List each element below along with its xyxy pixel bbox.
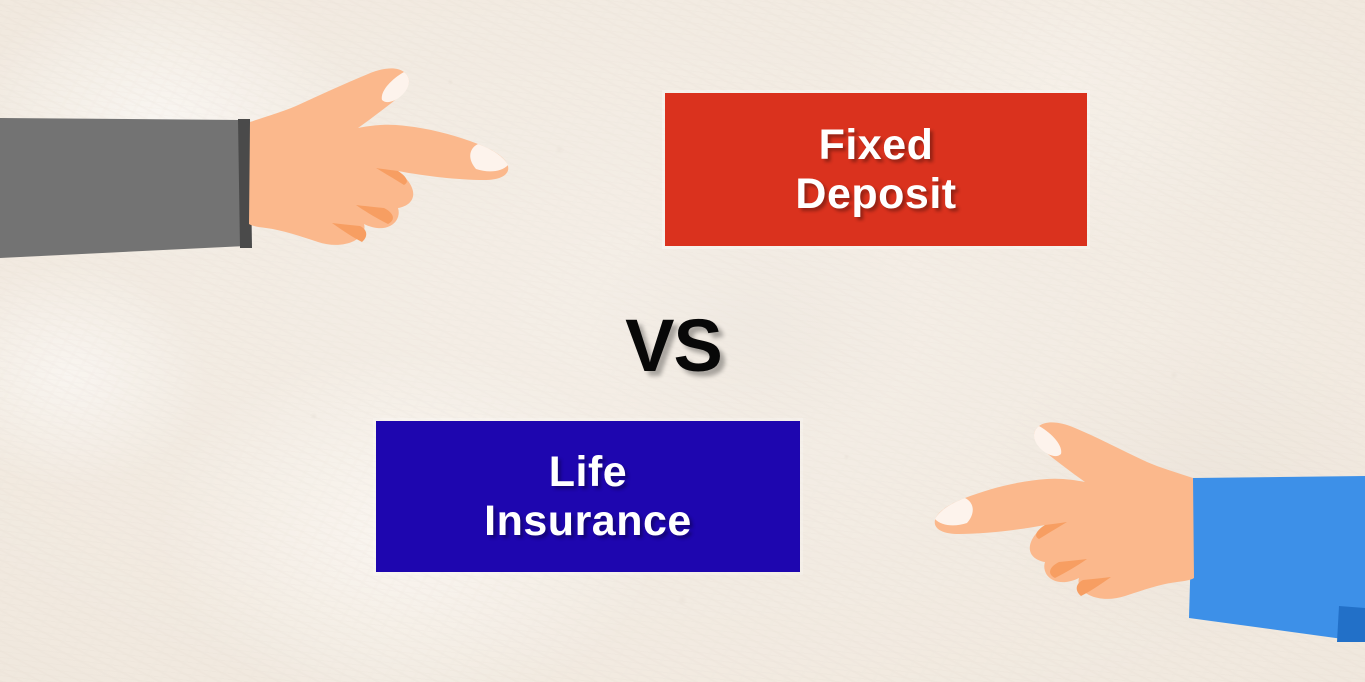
option-box-fixed-deposit[interactable]: Fixed Deposit <box>665 93 1087 246</box>
left-sleeve <box>0 118 246 258</box>
option-label-line2: Deposit <box>795 170 956 218</box>
option-label-life-insurance: Life Insurance <box>484 448 692 544</box>
right-sleeve-shade <box>1337 606 1365 642</box>
option-box-life-insurance[interactable]: Life Insurance <box>376 421 800 572</box>
versus-label-text: VS <box>625 304 722 387</box>
versus-label: VS <box>0 303 1365 388</box>
versus-graphic-canvas: Fixed Deposit VS Life Insurance <box>0 0 1365 682</box>
option-label-line2: Insurance <box>484 497 692 545</box>
pointing-hand-right-icon <box>0 30 560 280</box>
option-label-line1: Fixed <box>795 121 956 169</box>
pointing-hand-left-icon <box>880 380 1365 650</box>
option-label-line1: Life <box>484 448 692 496</box>
option-label-fixed-deposit: Fixed Deposit <box>795 121 956 217</box>
